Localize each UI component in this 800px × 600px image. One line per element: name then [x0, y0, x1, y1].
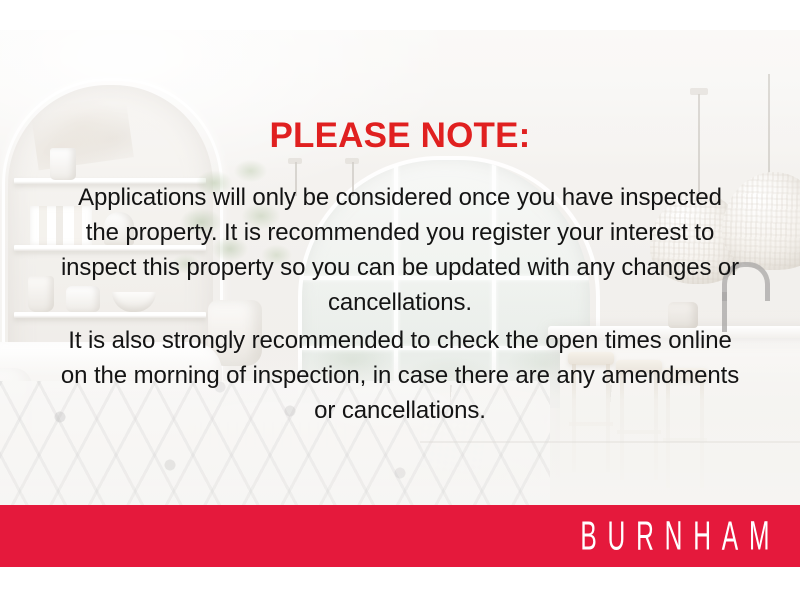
notice-paragraph-1: Applications will only be considered onc… — [60, 180, 740, 320]
please-note-heading: PLEASE NOTE: — [0, 118, 800, 153]
text-overlay: PLEASE NOTE: Applications will only be c… — [0, 30, 800, 505]
notice-paragraph-2: It is also strongly recommended to check… — [60, 323, 740, 428]
brand-footer-bar: BURNHAM — [0, 505, 800, 567]
burnham-logo-wordmark: BURNHAM — [580, 516, 780, 557]
notice-slide: PLEASE NOTE: Applications will only be c… — [0, 0, 800, 600]
